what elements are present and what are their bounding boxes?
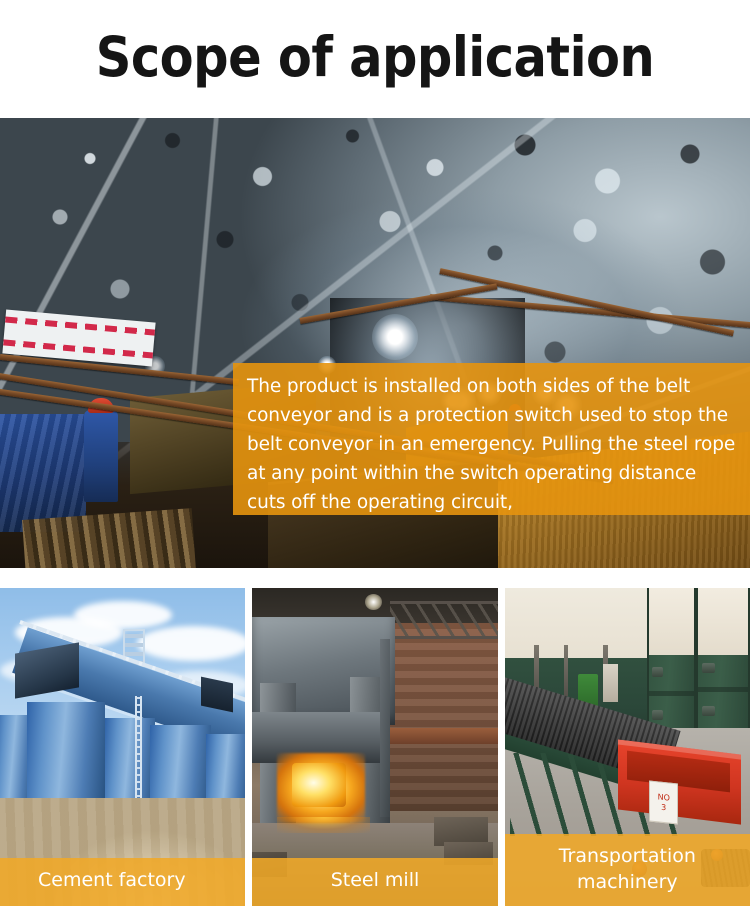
blue-tarp (0, 414, 86, 532)
page-title: Scope of application (0, 22, 750, 92)
application-panel-steel-mill[interactable]: Steel mill (252, 588, 497, 906)
application-panels: Cement factory Steel mill (0, 588, 750, 906)
cart-number-tag: NO 3 (649, 780, 678, 824)
cart-tag-line-1: NO (658, 792, 670, 803)
glowing-hot-billet (292, 763, 346, 808)
cloud (137, 626, 245, 661)
cart-tag-line-2: 3 (662, 802, 667, 813)
product-description-overlay: The product is installed on both sides o… (233, 363, 750, 515)
access-ladder (135, 696, 142, 810)
door-upper-panel (649, 588, 694, 655)
door-hinge (702, 663, 715, 673)
door-bar (698, 687, 748, 693)
door-bar (649, 691, 694, 697)
hot-scale-spill (277, 817, 370, 833)
door-hinge (652, 667, 664, 677)
door-upper-panel (698, 588, 748, 655)
mine-worker (84, 410, 118, 502)
door-hinge (702, 706, 715, 716)
application-panel-transportation-machinery[interactable]: NO 3 Transportation machinery (505, 588, 750, 906)
panel-label-transportation-machinery: Transportation machinery (505, 834, 750, 906)
door-hinge (652, 710, 664, 720)
panel-label-steel-mill: Steel mill (252, 858, 497, 906)
steel-block (434, 817, 488, 846)
cloud (74, 601, 172, 630)
application-panel-cement-factory[interactable]: Cement factory (0, 588, 245, 906)
steel-beam (390, 728, 498, 744)
panel-label-cement-factory: Cement factory (0, 858, 245, 906)
brick-wall (385, 613, 498, 810)
roof-truss (390, 601, 498, 639)
wall-conduit (564, 645, 569, 696)
mine-lamp-icon (372, 314, 418, 360)
hydraulic-pipe (380, 639, 390, 817)
control-box (603, 664, 618, 702)
